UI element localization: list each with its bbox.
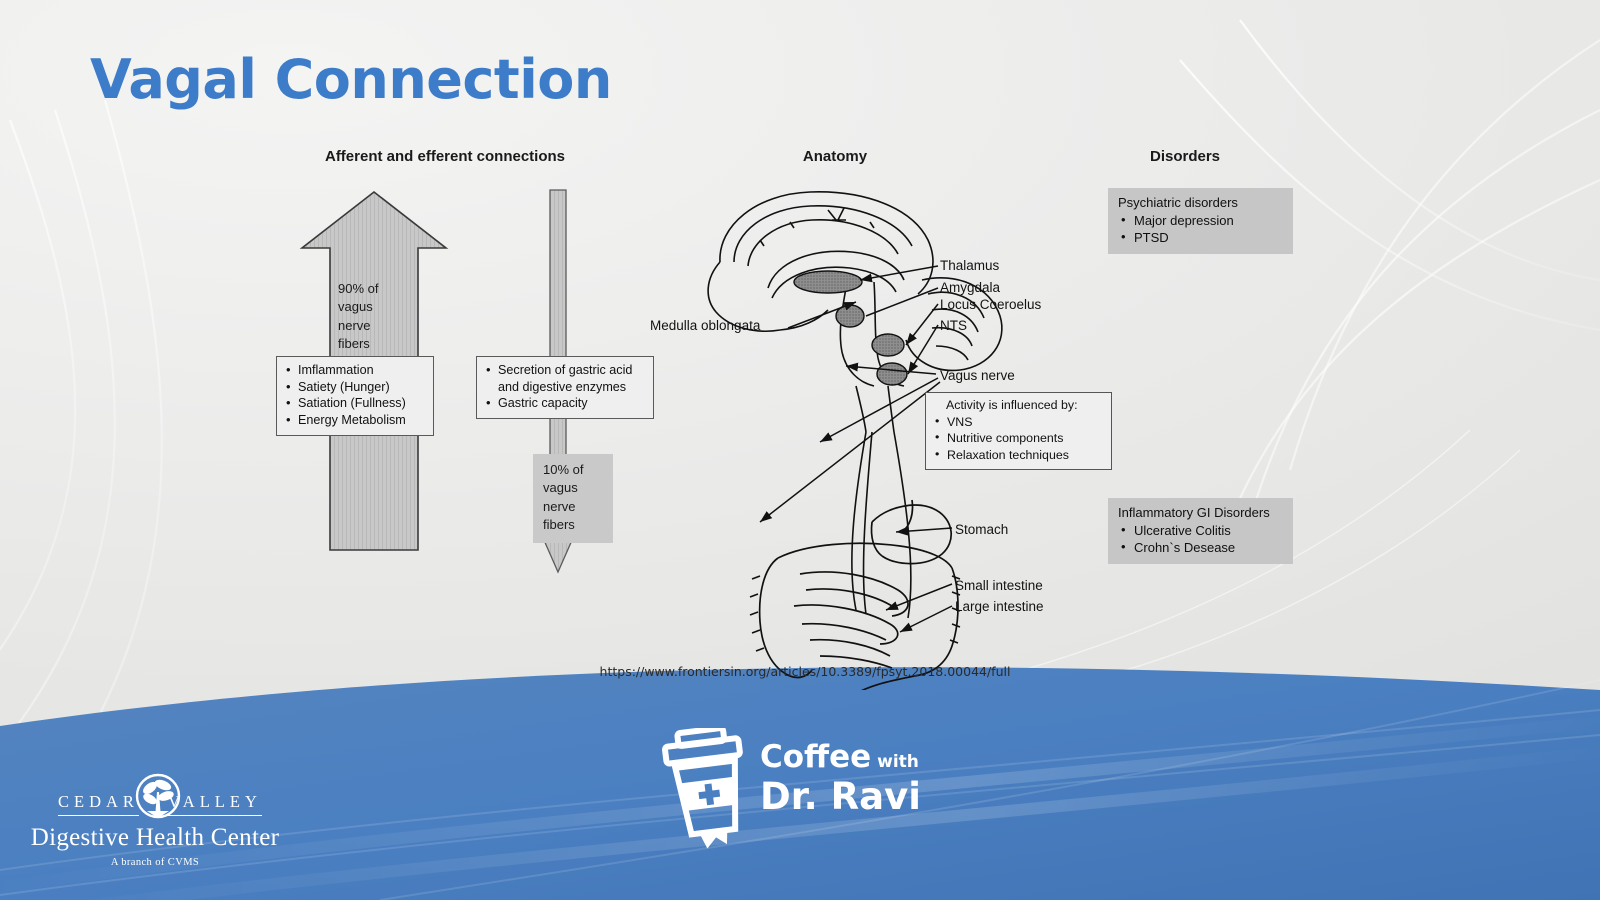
list-item: Crohn`s Desease xyxy=(1134,539,1283,557)
slide: Vagal Connection Afferent and efferent c… xyxy=(0,0,1600,900)
locus-coeroelus-marker xyxy=(872,334,904,356)
efferent-arrow-label: 10% of vagus nerve fibers xyxy=(533,454,613,543)
list-item: Major depression xyxy=(1134,212,1283,230)
efferent-label-line4: fibers xyxy=(543,516,605,534)
label-thalamus: Thalamus xyxy=(940,258,999,273)
coffee-wordmark: Coffee with Dr. Ravi xyxy=(760,742,921,816)
logo-tagline: A branch of CVMS xyxy=(20,857,290,868)
efferent-bullet-box: Secretion of gastric acid and digestive … xyxy=(476,356,654,419)
psychiatric-disorders-box: Psychiatric disorders Major depression P… xyxy=(1108,188,1293,254)
efferent-label-line1: 10% of xyxy=(543,461,605,479)
column-heading-anatomy: Anatomy xyxy=(710,148,960,165)
list-item: Satiation (Fullness) xyxy=(298,395,425,412)
efferent-label-line3: nerve xyxy=(543,498,605,516)
afferent-label-line2: vagus xyxy=(338,298,408,316)
afferent-label-line3: nerve xyxy=(338,317,408,335)
gi-heading: Inflammatory GI Disorders xyxy=(1118,504,1283,522)
page-title: Vagal Connection xyxy=(90,48,612,111)
label-vagus-nerve: Vagus nerve xyxy=(940,368,1015,383)
activity-influence-box: Activity is influenced by: VNS Nutritive… xyxy=(925,392,1112,470)
cedar-valley-logo: CEDAR VALLEY Digestive Health Center A b… xyxy=(20,756,290,866)
gi-disorders-box: Inflammatory GI Disorders Ulcerative Col… xyxy=(1108,498,1293,564)
gi-tract-outline xyxy=(750,500,960,690)
thalamus-marker xyxy=(794,271,862,293)
list-item-continuation: and digestive enzymes xyxy=(498,379,645,396)
efferent-label-line2: vagus xyxy=(543,479,605,497)
column-heading-afferent: Afferent and efferent connections xyxy=(250,148,640,165)
label-large-intestine: Large intestine xyxy=(955,599,1044,614)
coffee-line1: Coffee with xyxy=(760,742,921,773)
coffee-word: Coffee xyxy=(760,739,871,775)
figure-container: Afferent and efferent connections Anatom… xyxy=(250,140,1360,700)
column-heading-disorders: Disorders xyxy=(1060,148,1310,165)
coffee-with-word: with xyxy=(871,752,919,772)
afferent-arrow-label: 90% of vagus nerve fibers xyxy=(338,280,408,354)
afferent-bullet-box: Imflammation Satiety (Hunger) Satiation … xyxy=(276,356,434,436)
psychiatric-heading: Psychiatric disorders xyxy=(1118,194,1283,212)
coffee-line2: Dr. Ravi xyxy=(760,777,921,816)
source-url: https://www.frontiersin.org/articles/10.… xyxy=(250,664,1360,679)
list-item: Ulcerative Colitis xyxy=(1134,522,1283,540)
label-locus-coeroelus: Locus Coeroelus xyxy=(940,297,1041,312)
nts-marker xyxy=(877,363,907,385)
coffee-with-dr-ravi-logo: Coffee with Dr. Ravi xyxy=(660,726,990,856)
list-item: VNS xyxy=(947,414,1105,431)
label-amygdala: Amygdala xyxy=(940,280,1000,295)
list-item: Gastric capacity xyxy=(498,395,645,412)
label-stomach: Stomach xyxy=(955,522,1008,537)
list-item: Nutritive components xyxy=(947,430,1105,447)
logo-clinic-name: Digestive Health Center xyxy=(20,824,290,852)
list-item: Imflammation xyxy=(298,362,425,379)
label-medulla-oblongata: Medulla oblongata xyxy=(650,318,760,333)
coffee-cup-icon xyxy=(660,728,756,850)
list-item: Satiety (Hunger) xyxy=(298,379,425,396)
label-small-intestine: Small intestine xyxy=(955,578,1043,593)
influence-box-heading: Activity is influenced by: xyxy=(932,397,1105,414)
list-item: Relaxation techniques xyxy=(947,447,1105,464)
anatomy-diagram: Thalamus Amygdala Locus Coeroelus NTS Me… xyxy=(660,170,1080,690)
afferent-label-line1: 90% of xyxy=(338,280,408,298)
afferent-label-line4: fibers xyxy=(338,335,408,353)
logo-word-valley: VALLEY xyxy=(168,792,262,816)
logo-word-cedar: CEDAR xyxy=(58,792,139,816)
label-nts: NTS xyxy=(940,318,967,333)
list-item: Energy Metabolism xyxy=(298,412,425,429)
list-item: PTSD xyxy=(1134,229,1283,247)
vagus-nerve-trunk xyxy=(852,432,911,618)
list-item: Secretion of gastric acid xyxy=(498,362,645,379)
